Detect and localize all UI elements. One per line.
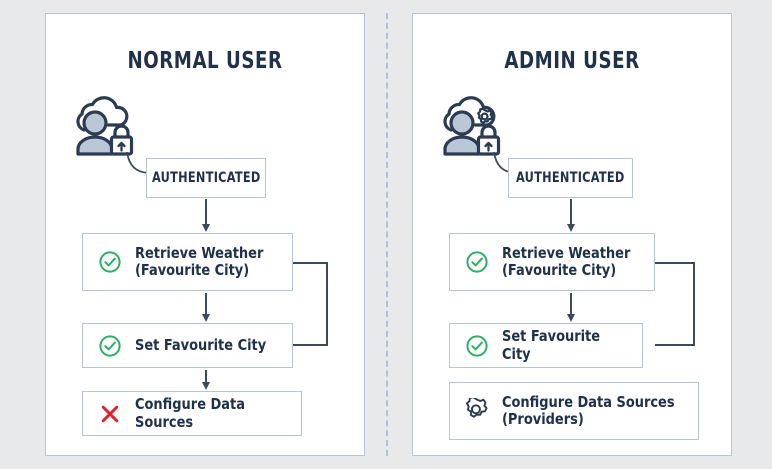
step-label: Retrieve Weather (Favourite City) <box>502 245 630 280</box>
authenticated-box-normal: AUTHENTICATED <box>146 158 266 198</box>
arrow-auth-to-step1 <box>200 199 212 232</box>
step-label: Configure Data Sources (Providers) <box>502 394 675 429</box>
check-circle-icon <box>97 249 123 275</box>
step-box-retrieve-weather[interactable]: Retrieve Weather (Favourite City) <box>449 233 655 291</box>
step-box-configure-data-sources[interactable]: Configure Data Sources <box>82 391 302 436</box>
diagram-canvas: NORMAL USER <box>0 0 772 469</box>
gear-badge-icon <box>478 109 492 123</box>
gear-icon <box>464 398 490 424</box>
step-box-configure-data-sources[interactable]: Configure Data Sources (Providers) <box>449 382 699 440</box>
authenticated-box-admin: AUTHENTICATED <box>508 158 633 198</box>
panel-title-normal-user: NORMAL USER <box>65 48 345 74</box>
step-label: Set Favourite City <box>502 328 632 363</box>
check-circle-icon <box>97 333 123 359</box>
step-box-set-favourite-city[interactable]: Set Favourite City <box>82 323 293 368</box>
arrow-auth-to-step1 <box>565 199 577 232</box>
arrow-step1-to-step2 <box>565 293 577 322</box>
cross-icon <box>97 401 123 427</box>
panel-title-admin-user: ADMIN USER <box>432 48 712 74</box>
vertical-dashed-divider <box>386 13 388 456</box>
step-box-retrieve-weather[interactable]: Retrieve Weather (Favourite City) <box>82 233 293 291</box>
step-label: Set Favourite City <box>135 337 266 354</box>
step-box-set-favourite-city[interactable]: Set Favourite City <box>449 323 643 368</box>
authenticated-label: AUTHENTICATED <box>516 170 625 186</box>
bracket-connector-admin <box>655 262 695 346</box>
arrow-step2-to-step3 <box>200 370 212 390</box>
arrow-step1-to-step2 <box>200 293 212 322</box>
step-label: Retrieve Weather (Favourite City) <box>135 245 263 280</box>
bracket-connector-normal <box>293 262 328 346</box>
panel-normal-user: NORMAL USER <box>45 13 365 456</box>
check-circle-icon <box>464 249 490 275</box>
check-circle-icon <box>464 333 490 359</box>
panel-admin-user: ADMIN USER <box>412 13 732 456</box>
step-label: Configure Data Sources <box>135 396 289 431</box>
authenticated-label: AUTHENTICATED <box>152 170 261 186</box>
